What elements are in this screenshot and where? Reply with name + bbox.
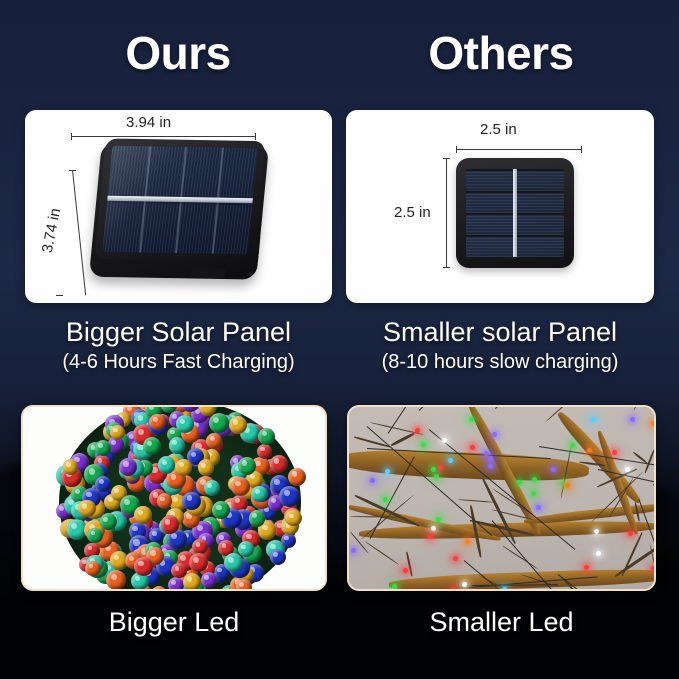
led-bulb	[285, 510, 301, 526]
panel-cells-others	[466, 169, 564, 257]
solar-caption-others-sub: (8-10 hours slow charging)	[346, 349, 654, 375]
led-bulb	[134, 506, 151, 523]
led-bulb	[236, 579, 253, 591]
solar-caption-ours-sub: (4-6 Hours Fast Charging)	[25, 349, 332, 375]
dimension-line-ours-height	[72, 170, 86, 295]
dimension-cap-others-height-start	[443, 158, 450, 159]
led-bulb	[192, 539, 207, 554]
led-caption-others: Smaller Led	[347, 605, 656, 639]
led-bulb	[168, 577, 184, 591]
led-bulb	[171, 563, 186, 578]
led-bulb	[238, 457, 256, 475]
led-bulb	[78, 500, 95, 517]
led-card-others	[347, 405, 656, 591]
mini-led-lamp	[428, 534, 433, 539]
dimension-label-others-width: 2.5 in	[480, 121, 517, 138]
solar-caption-others: Smaller solar Panel (8-10 hours slow cha…	[346, 316, 654, 375]
tree-twig	[406, 551, 413, 576]
mini-led-lamp	[517, 480, 522, 485]
mini-led-lamp	[492, 432, 497, 437]
mini-led-lamp	[536, 505, 541, 510]
tree-twig	[495, 405, 546, 409]
led-bulb	[229, 416, 247, 434]
solar-panel-image-ours	[87, 136, 277, 286]
led-branches-image	[349, 407, 654, 589]
led-bulb	[201, 572, 217, 588]
panel-glass-sheen	[102, 146, 258, 255]
mini-led-lamp	[551, 467, 556, 472]
led-bulb	[134, 557, 152, 575]
led-bulb	[87, 528, 102, 543]
led-bulb	[231, 477, 250, 496]
dimension-cap-others-height-end	[443, 267, 450, 268]
mini-led-lamp	[488, 457, 493, 462]
mini-led-lamp	[612, 450, 617, 455]
mini-led-lamp	[453, 556, 458, 561]
led-bulb	[85, 561, 100, 576]
mini-led-lamp	[651, 566, 656, 571]
mini-led-lamp	[584, 565, 589, 570]
dimension-cap-ours-height-end	[56, 295, 63, 296]
mini-led-lamp	[434, 474, 439, 479]
mini-led-lamp	[370, 478, 375, 483]
mini-led-lamp	[565, 483, 570, 488]
mini-led-lamp	[351, 548, 356, 553]
mini-led-lamp	[502, 587, 507, 591]
led-card-ours	[21, 405, 327, 591]
panel-cells	[102, 146, 258, 255]
mini-led-lamp	[403, 568, 408, 573]
dimension-line-others-height	[446, 158, 447, 268]
led-bulb	[100, 513, 117, 530]
mini-led-lamp	[383, 497, 388, 502]
mini-led-lamp	[628, 531, 633, 536]
tree-twig	[390, 433, 414, 447]
led-bulb	[288, 468, 306, 486]
led-bulb	[119, 458, 137, 476]
mini-led-lamp	[442, 438, 447, 443]
led-bulb	[95, 440, 111, 456]
led-bulb	[157, 493, 172, 508]
led-bulb	[204, 480, 220, 496]
dimension-cap-ours-width-start	[71, 133, 72, 140]
dimension-label-others-height: 2.5 in	[394, 204, 431, 221]
mini-led-lamp	[591, 417, 596, 422]
column-heading-others: Others	[348, 24, 654, 82]
dimension-cap-others-width-end	[581, 146, 582, 153]
led-bulb	[175, 459, 191, 475]
led-bulb	[279, 486, 300, 507]
dimension-label-ours-height: 3.74 in	[39, 207, 64, 254]
mini-led-lamp	[596, 551, 601, 556]
solar-panel-card-others: 2.5 in 2.5 in	[346, 110, 654, 303]
mini-led-lamp	[651, 421, 656, 426]
mini-led-lamp	[385, 469, 390, 474]
led-bulb	[251, 486, 267, 502]
led-bulb	[63, 459, 78, 474]
tree-twig	[364, 541, 399, 565]
mini-led-lamp	[415, 428, 420, 433]
mini-led-lamp	[421, 442, 426, 447]
led-bulb-cluster-image	[23, 407, 325, 589]
solar-panel-image-others	[456, 158, 574, 268]
led-bulb	[176, 415, 193, 432]
led-bulb	[249, 510, 266, 527]
panel-busbar-others	[513, 169, 517, 257]
tree-twig	[634, 405, 644, 410]
mini-led-lamp	[531, 491, 536, 496]
mini-led-lamp	[570, 443, 575, 448]
led-bulb	[198, 459, 215, 476]
dimension-cap-others-width-start	[456, 146, 457, 153]
dimension-label-ours-width: 3.94 in	[126, 114, 171, 131]
mini-led-lamp	[465, 539, 470, 544]
tree-branch	[389, 567, 656, 591]
led-bulb	[209, 413, 229, 433]
mini-led-lamp	[448, 458, 453, 463]
led-bulb	[183, 573, 201, 591]
panel-bottom-notch	[190, 267, 225, 278]
column-heading-ours: Ours	[25, 24, 331, 82]
mini-led-lamp	[469, 417, 474, 422]
mini-led-lamp	[451, 587, 456, 591]
solar-caption-others-main: Smaller solar Panel	[346, 316, 654, 349]
mini-led-lamp	[470, 445, 475, 450]
mini-led-lamp	[532, 477, 537, 482]
led-wire	[418, 405, 489, 411]
mini-led-lamp	[438, 465, 443, 470]
led-bulb	[270, 455, 288, 473]
tree-twig	[501, 545, 538, 570]
led-bulb	[161, 515, 180, 534]
mini-led-lamp	[431, 467, 436, 472]
mini-led-lamp	[436, 517, 441, 522]
mini-led-lamp	[630, 417, 635, 422]
solar-panel-card-ours: 3.94 in 3.74 in	[25, 110, 332, 303]
panel-top-face	[95, 138, 266, 261]
dimension-line-others-width	[456, 149, 582, 150]
led-bulb	[258, 428, 275, 445]
led-bulb	[143, 437, 161, 455]
led-bulb	[158, 456, 175, 473]
led-caption-ours: Bigger Led	[21, 605, 327, 639]
dimension-cap-ours-height-start	[69, 170, 76, 171]
solar-caption-ours-main: Bigger Solar Panel	[25, 316, 332, 349]
tree-twig	[458, 499, 494, 503]
solar-caption-ours: Bigger Solar Panel (4-6 Hours Fast Charg…	[25, 316, 332, 375]
led-bulb	[270, 549, 286, 565]
tree-branch	[347, 447, 589, 484]
